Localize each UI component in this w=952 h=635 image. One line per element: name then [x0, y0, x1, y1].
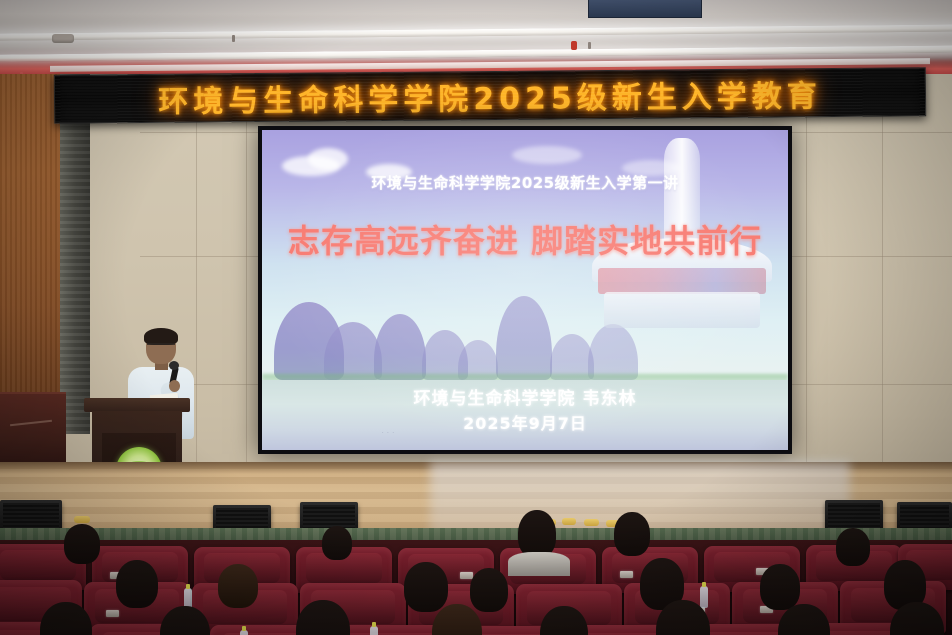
audience-head	[64, 524, 100, 564]
stage-prop-item	[584, 519, 599, 526]
slide-title: 志存高远齐奋进 脚踏实地共前行	[262, 216, 788, 262]
landmark-facade-band	[598, 268, 766, 294]
seat-number-plate	[620, 571, 633, 578]
audience-head	[218, 564, 258, 608]
ceiling-light-strip-upper	[0, 24, 952, 41]
slide-subtitle: 环境与生命科学学院2025级新生入学第一讲	[262, 172, 788, 193]
slide-date: 2025年9月7日	[262, 410, 788, 434]
audience-head	[404, 562, 448, 612]
stage-prop-item	[74, 516, 90, 523]
ceiling-fixture-dot	[232, 35, 235, 42]
audience-head	[322, 526, 352, 560]
audience-head	[760, 564, 800, 610]
cloud-shape	[308, 148, 348, 170]
wall-seam	[246, 74, 247, 466]
slide-presenter: 环境与生命科学学院 韦东林	[262, 384, 788, 409]
projection-screen-frame: 环境与生命科学学院2025级新生入学第一讲 志存高远齐奋进 脚踏实地共前行 环境…	[258, 126, 792, 454]
glasses-icon	[147, 343, 175, 351]
led-banner-text: 环境与生命科学学院2025级新生入学教育	[158, 71, 822, 121]
audience-head	[614, 512, 650, 556]
audience-head	[470, 568, 508, 612]
led-banner: 环境与生命科学学院2025级新生入学教育	[54, 67, 926, 124]
wall-seam	[882, 74, 883, 466]
seat-number-plate	[460, 572, 473, 579]
audience-shoulders	[508, 552, 570, 576]
audience-head	[518, 510, 556, 558]
projection-screen: 环境与生命科学学院2025级新生入学第一讲 志存高远齐奋进 脚踏实地共前行 环境…	[262, 130, 788, 450]
audience-head	[836, 528, 870, 566]
stone-pilaster	[60, 74, 90, 434]
sprinkler-icon	[571, 41, 577, 50]
ceiling-projector-mount	[588, 0, 702, 18]
wall-seam	[806, 74, 807, 466]
ceiling-fixture-dot	[588, 42, 591, 49]
mountain-shape	[374, 314, 426, 380]
microphone-head-icon	[169, 361, 179, 370]
cloud-shape	[512, 146, 582, 164]
water-bottle	[240, 630, 248, 635]
landmark-base	[604, 292, 760, 328]
slide-watermark: · · ·	[382, 430, 395, 436]
auditorium-scene: 环境与生命科学学院2025级新生入学教育	[0, 0, 952, 635]
mountain-shape	[496, 296, 552, 380]
seat-number-plate	[106, 610, 119, 617]
presenter-hand	[169, 380, 180, 392]
audience-area	[0, 540, 952, 635]
ceiling-speaker-icon	[52, 34, 74, 43]
podium-top	[84, 398, 190, 412]
water-bottle	[700, 586, 708, 608]
stage-side-cabinet	[0, 392, 66, 469]
water-bottle	[370, 626, 378, 635]
stage-prop-item	[562, 518, 576, 525]
audience-head	[116, 560, 158, 608]
mountain-shape	[588, 324, 638, 380]
